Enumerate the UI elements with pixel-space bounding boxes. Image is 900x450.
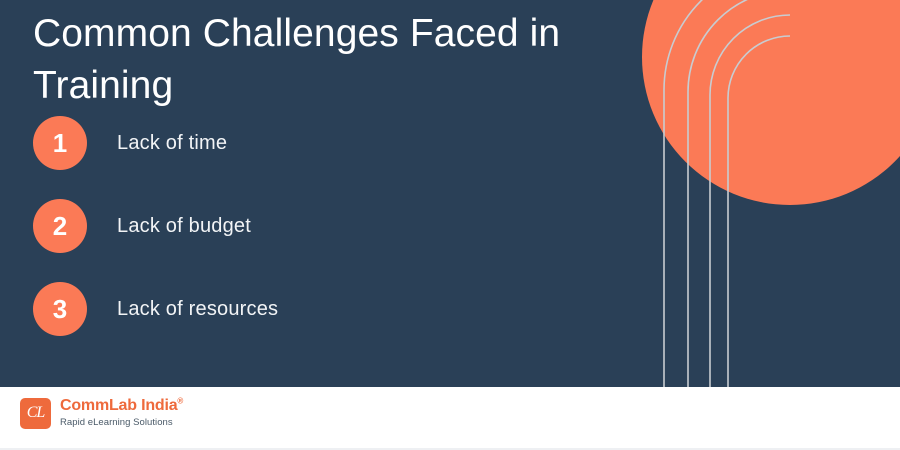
brand-tagline: Rapid eLearning Solutions bbox=[60, 417, 183, 429]
slide-canvas: Common Challenges Faced in Training 1 La… bbox=[0, 0, 900, 387]
decorative-arc-2 bbox=[688, 0, 790, 387]
commlab-logo-icon: CL bbox=[20, 398, 51, 429]
decorative-circle bbox=[642, 0, 900, 205]
list-item-number-badge: 2 bbox=[33, 199, 87, 253]
challenges-list: 1 Lack of time 2 Lack of budget 3 Lack o… bbox=[33, 114, 593, 363]
list-item-label: Lack of budget bbox=[117, 215, 251, 238]
logo-monogram-text: CL bbox=[20, 398, 51, 429]
brand-logo: CL CommLab India® Rapid eLearning Soluti… bbox=[20, 397, 183, 429]
page-title: Common Challenges Faced in Training bbox=[33, 8, 633, 113]
brand-name-text: CommLab India bbox=[60, 397, 177, 414]
list-item: 1 Lack of time bbox=[33, 114, 593, 172]
slide: Common Challenges Faced in Training 1 La… bbox=[0, 0, 900, 450]
decorative-graphic bbox=[640, 0, 900, 387]
brand-name: CommLab India® bbox=[60, 397, 183, 415]
decorative-arc-3 bbox=[710, 15, 790, 387]
list-item-number-badge: 1 bbox=[33, 116, 87, 170]
registered-trademark-icon: ® bbox=[177, 397, 183, 406]
brand-text-block: CommLab India® Rapid eLearning Solutions bbox=[60, 397, 183, 429]
list-item-label: Lack of time bbox=[117, 132, 227, 155]
footer-bar: CL CommLab India® Rapid eLearning Soluti… bbox=[0, 387, 900, 450]
list-item: 3 Lack of resources bbox=[33, 280, 593, 338]
list-item-label: Lack of resources bbox=[117, 298, 278, 321]
decorative-arc-1 bbox=[664, 0, 790, 387]
list-item-number-badge: 3 bbox=[33, 282, 87, 336]
list-item: 2 Lack of budget bbox=[33, 197, 593, 255]
decorative-arc-4 bbox=[728, 36, 790, 387]
